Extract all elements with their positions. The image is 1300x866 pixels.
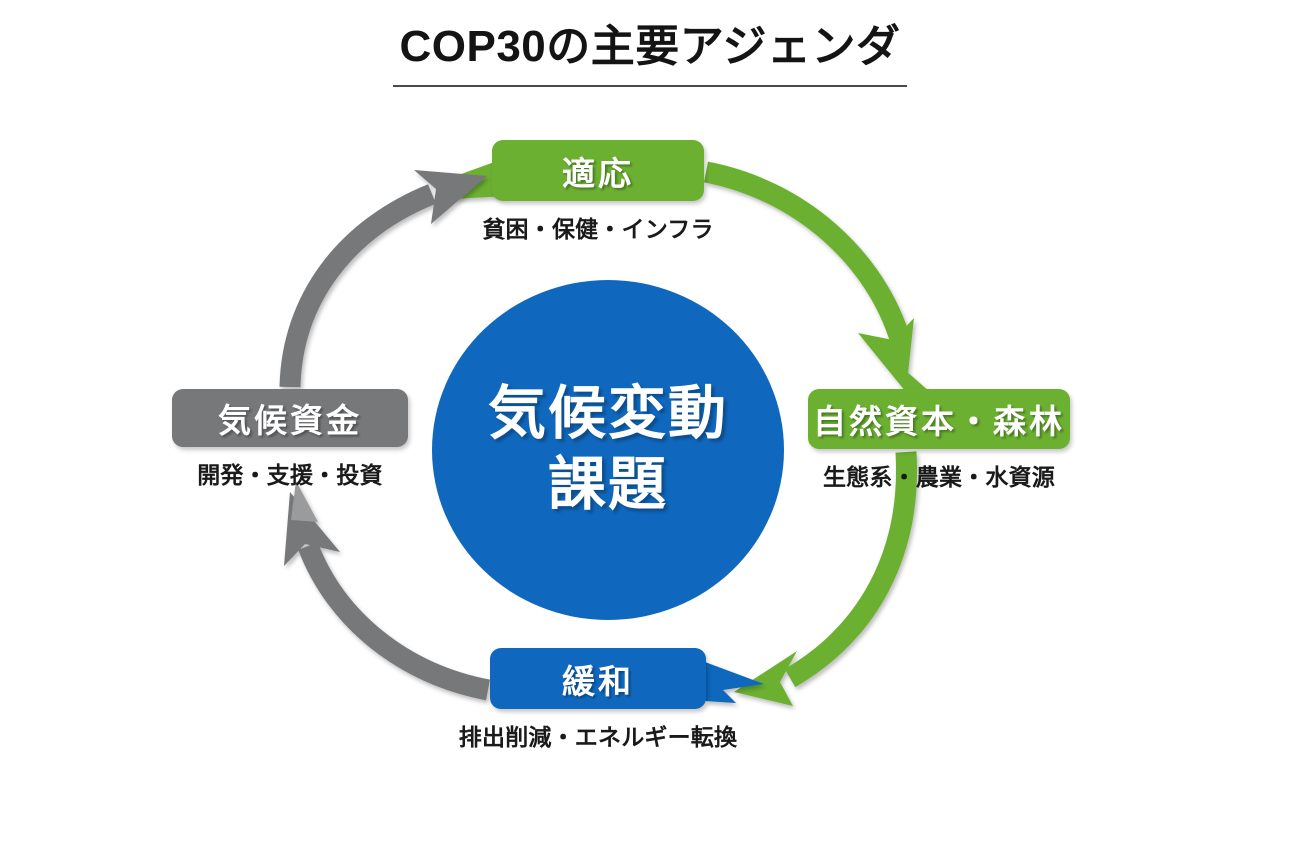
diagram-canvas: COP30の主要アジェンダ xyxy=(0,0,1300,866)
node-nature-box[interactable]: 自然資本・森林 xyxy=(808,389,1070,449)
node-mitigation-caption: 排出削減・エネルギー転換 xyxy=(459,718,737,752)
center-hub: 気候変動 課題 xyxy=(432,280,784,620)
node-adaptation[interactable]: 適応 貧困・保健・インフラ xyxy=(492,140,704,244)
center-hub-label-line2: 課題 xyxy=(548,450,668,521)
node-adaptation-box[interactable]: 適応 xyxy=(492,140,704,201)
node-adaptation-label: 適応 xyxy=(562,147,634,195)
node-mitigation[interactable]: 緩和 排出削減・エネルギー転換 xyxy=(490,648,706,752)
node-finance-label: 気候資金 xyxy=(218,394,362,442)
node-nature-label: 自然資本・森林 xyxy=(813,395,1065,443)
node-finance-caption: 開発・支援・投資 xyxy=(197,456,383,490)
center-hub-label-line1: 気候変動 xyxy=(488,379,728,450)
node-mitigation-label: 緩和 xyxy=(562,655,634,703)
node-finance[interactable]: 気候資金 開発・支援・投資 xyxy=(172,389,408,490)
node-nature[interactable]: 自然資本・森林 生態系・農業・水資源 xyxy=(808,389,1070,492)
node-nature-caption: 生態系・農業・水資源 xyxy=(823,458,1055,492)
node-adaptation-caption: 貧困・保健・インフラ xyxy=(482,210,713,244)
node-finance-box[interactable]: 気候資金 xyxy=(172,389,408,447)
node-mitigation-box[interactable]: 緩和 xyxy=(490,648,706,709)
arrow-finance-to-adaptation xyxy=(290,170,487,387)
